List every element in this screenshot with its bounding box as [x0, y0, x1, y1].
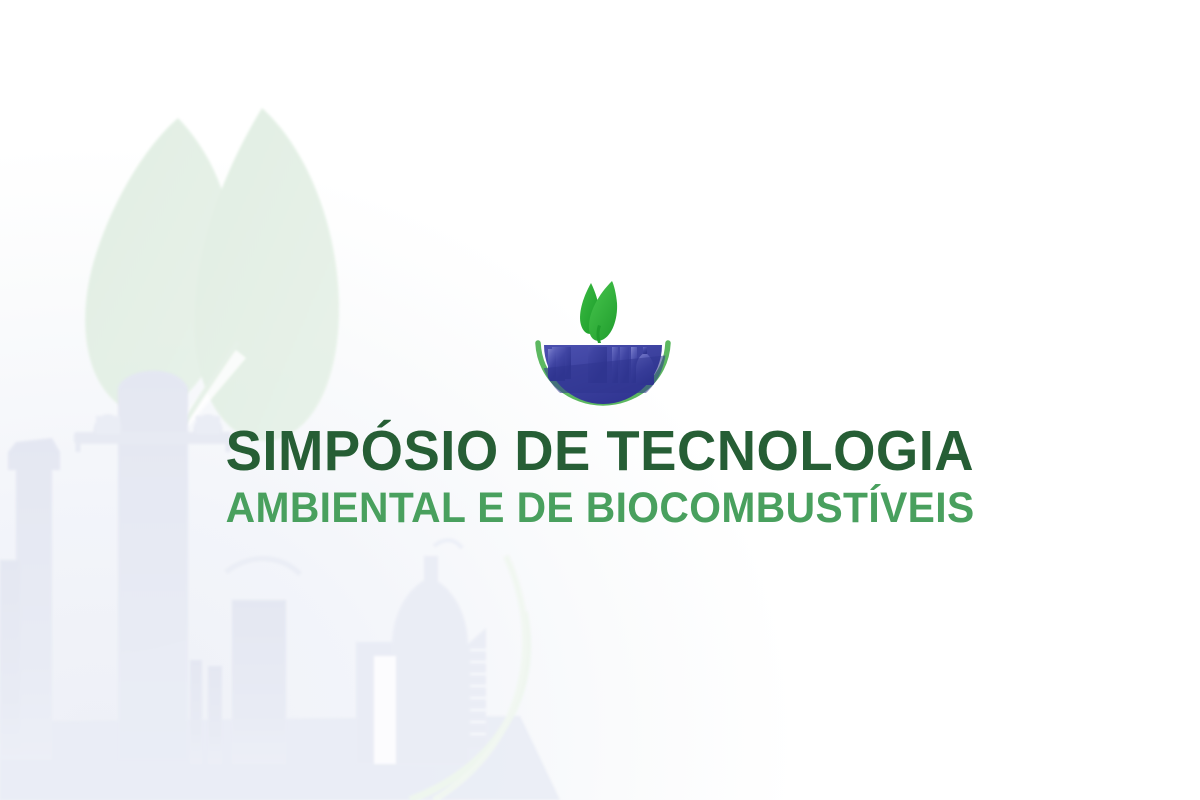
brand-lockup: SIMPÓSIO DE TECNOLOGIA AMBIENTAL E DE BI…	[0, 0, 1200, 800]
simposio-logo	[528, 269, 678, 409]
leaf-icon	[580, 281, 617, 343]
splash-stage: SIMPÓSIO DE TECNOLOGIA AMBIENTAL E DE BI…	[0, 0, 1200, 800]
page-title: SIMPÓSIO DE TECNOLOGIA	[226, 423, 974, 480]
page-subtitle: AMBIENTAL E DE BIOCOMBUSTÍVEIS	[225, 488, 974, 531]
wordmark: SIMPÓSIO DE TECNOLOGIA AMBIENTAL E DE BI…	[208, 423, 992, 531]
